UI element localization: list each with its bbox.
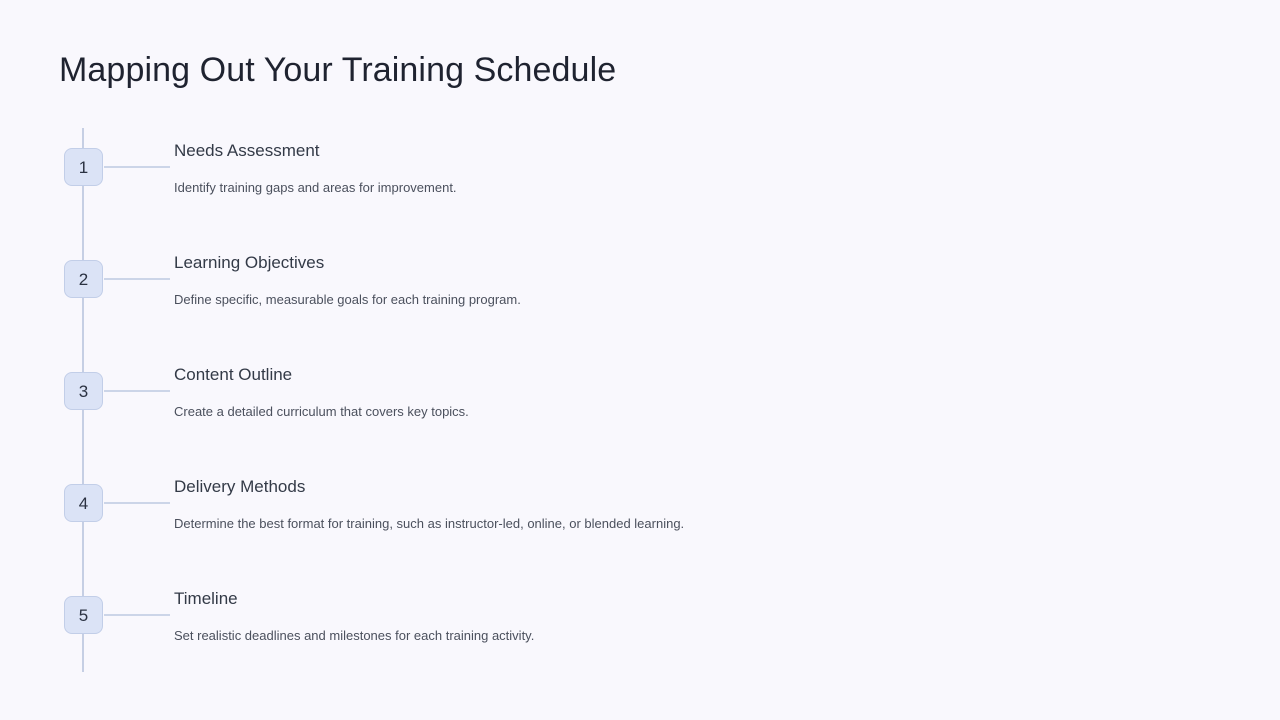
- step-content: Timeline Set realistic deadlines and mil…: [174, 588, 1174, 645]
- step-number-badge: 4: [64, 484, 103, 522]
- step-description: Define specific, measurable goals for ea…: [174, 291, 1174, 309]
- step-description: Determine the best format for training, …: [174, 515, 1174, 533]
- step-title: Learning Objectives: [174, 252, 1174, 275]
- step-connector-line: [104, 614, 170, 616]
- step-title: Timeline: [174, 588, 1174, 611]
- step-description: Create a detailed curriculum that covers…: [174, 403, 1174, 421]
- step-connector-line: [104, 278, 170, 280]
- step-content: Needs Assessment Identify training gaps …: [174, 140, 1174, 197]
- step-content: Delivery Methods Determine the best form…: [174, 476, 1174, 533]
- step-description: Set realistic deadlines and milestones f…: [174, 627, 1174, 645]
- timeline-graphic: 1 Needs Assessment Identify training gap…: [0, 0, 1280, 720]
- step-description: Identify training gaps and areas for imp…: [174, 179, 1174, 197]
- step-title: Needs Assessment: [174, 140, 1174, 163]
- step-number-badge: 3: [64, 372, 103, 410]
- slide-canvas: Mapping Out Your Training Schedule 1 Nee…: [0, 0, 1280, 720]
- step-number-badge: 2: [64, 260, 103, 298]
- step-title: Content Outline: [174, 364, 1174, 387]
- step-content: Content Outline Create a detailed curric…: [174, 364, 1174, 421]
- step-connector-line: [104, 166, 170, 168]
- step-connector-line: [104, 390, 170, 392]
- step-title: Delivery Methods: [174, 476, 1174, 499]
- step-number-badge: 5: [64, 596, 103, 634]
- step-connector-line: [104, 502, 170, 504]
- step-content: Learning Objectives Define specific, mea…: [174, 252, 1174, 309]
- step-number-badge: 1: [64, 148, 103, 186]
